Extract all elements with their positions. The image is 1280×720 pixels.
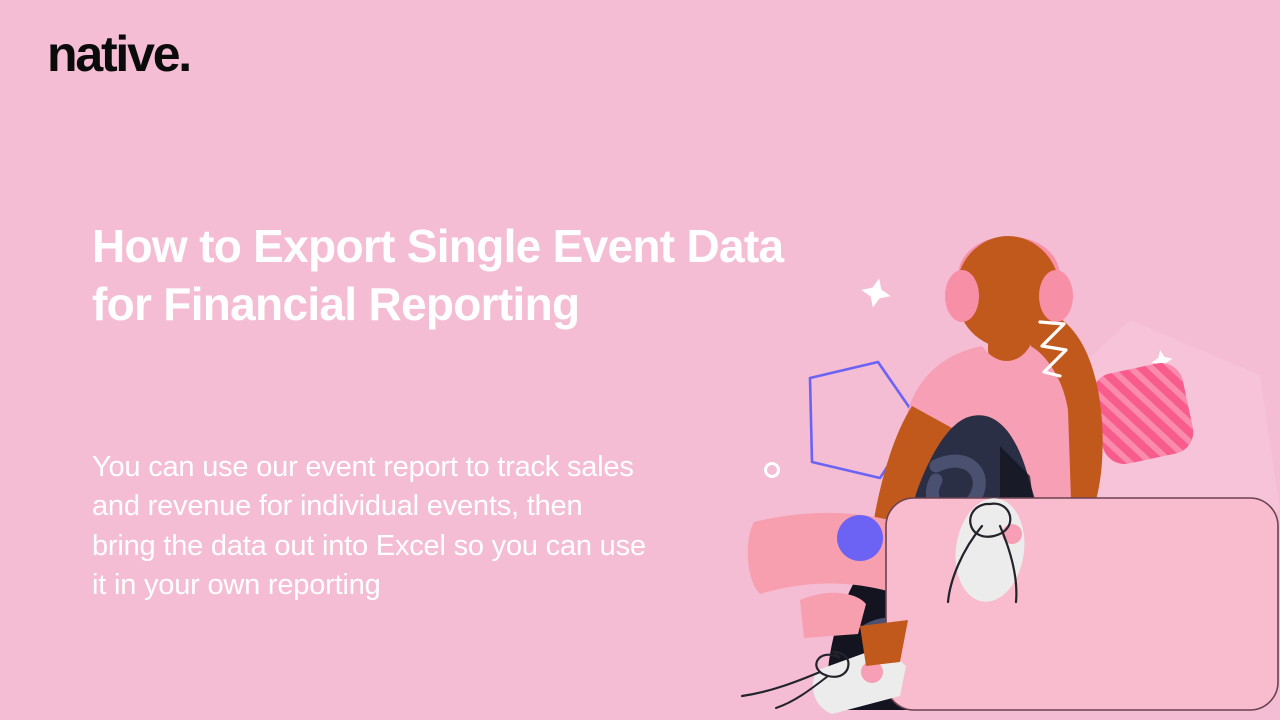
presentation-slide: native. bbox=[0, 0, 1280, 720]
brand-logo: native. bbox=[47, 29, 190, 79]
headphone-cup-right bbox=[1039, 270, 1073, 322]
rounded-card-shape bbox=[886, 498, 1278, 710]
hero-illustration bbox=[700, 110, 1280, 720]
body-paragraph: You can use our event report to track sa… bbox=[92, 448, 812, 606]
blue-dot-shape bbox=[837, 515, 883, 561]
sparkle-top-icon bbox=[858, 275, 894, 311]
headphone-cup-left bbox=[945, 270, 979, 322]
striped-square-shape bbox=[1088, 359, 1197, 468]
illustration-canvas bbox=[700, 110, 1280, 720]
